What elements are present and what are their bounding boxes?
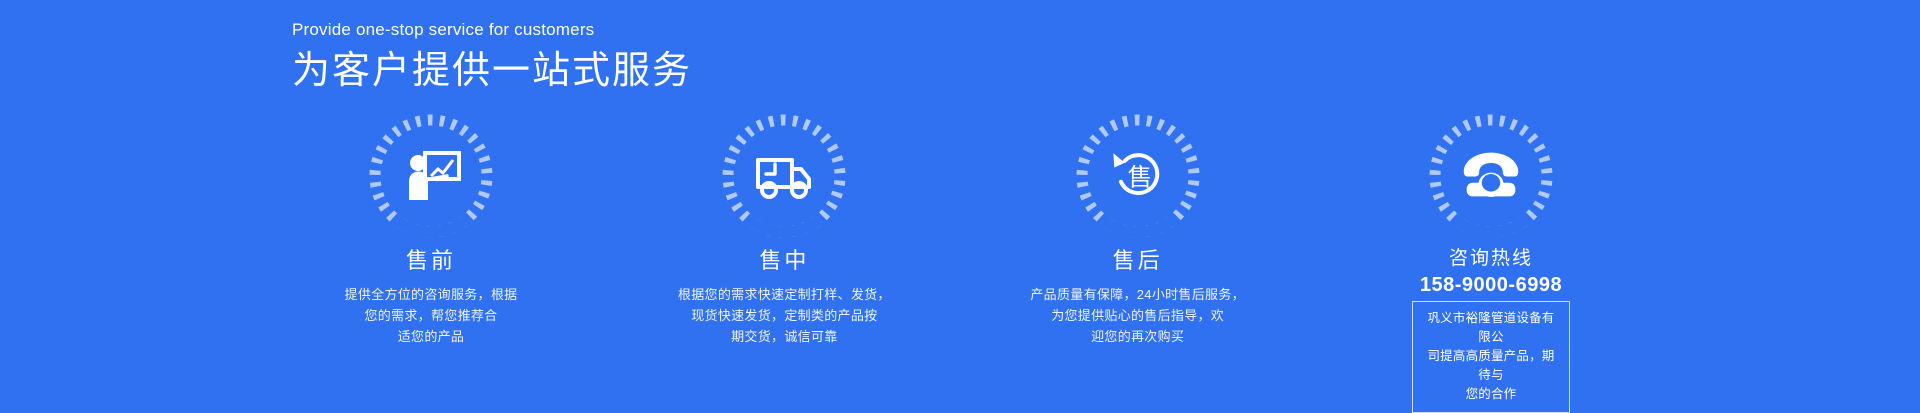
insale-desc-line-3: 期交货，诚信可靠	[677, 326, 892, 347]
hotline-icon-wrap	[1427, 112, 1555, 240]
banner-heading-block: Provide one-stop service for customers 为…	[292, 16, 1192, 98]
banner-subtitle-en: Provide one-stop service for customers	[292, 16, 1192, 44]
presale-desc-line-2: 您的需求，帮您推荐合	[324, 305, 539, 326]
presale-desc: 提供全方位的咨询服务，根据 您的需求，帮您推荐合 适您的产品	[324, 284, 539, 347]
aftersale-desc: 产品质量有保障，24小时售后服务， 为您提供贴心的售后指导，欢 迎您的再次购买	[1030, 284, 1245, 347]
aftersale-desc-line-1: 产品质量有保障，24小时售后服务，	[1030, 284, 1245, 305]
service-column-presale[interactable]: 售前 提供全方位的咨询服务，根据 您的需求，帮您推荐合 适您的产品	[296, 112, 566, 347]
svg-text:售: 售	[1127, 163, 1152, 191]
insale-icon-wrap	[720, 112, 848, 240]
banner-title-cn: 为客户提供一站式服务	[292, 44, 1192, 98]
insale-title: 售中	[759, 246, 809, 276]
insale-desc-line-1: 根据您的需求快速定制打样、发货，	[677, 284, 892, 305]
delivery-truck-clock-icon	[748, 140, 820, 212]
presale-icon-wrap	[367, 112, 495, 240]
insale-desc-line-2: 现货快速发货，定制类的产品按	[677, 305, 892, 326]
service-column-hotline[interactable]: 咨询热线 158-9000-6998 巩义市裕隆管道设备有限公 司提高高质量产品…	[1356, 112, 1626, 413]
presale-desc-line-3: 适您的产品	[324, 326, 539, 347]
insale-desc: 根据您的需求快速定制打样、发货， 现货快速发货，定制类的产品按 期交货，诚信可靠	[677, 284, 892, 347]
hotline-company-box: 巩义市裕隆管道设备有限公 司提高高质量产品，期待与 您的合作	[1412, 301, 1570, 413]
service-columns: 售前 提供全方位的咨询服务，根据 您的需求，帮您推荐合 适您的产品	[296, 112, 1626, 413]
hotline-number[interactable]: 158-9000-6998	[1420, 272, 1562, 298]
service-column-insale[interactable]: 售中 根据您的需求快速定制打样、发货， 现货快速发货，定制类的产品按 期交货，诚…	[649, 112, 919, 347]
hotline-box-line-2: 司提高高质量产品，期待与	[1423, 347, 1559, 385]
refresh-circle-sale-icon: 售	[1102, 140, 1174, 212]
service-banner: Provide one-stop service for customers 为…	[0, 0, 1920, 413]
service-column-aftersale[interactable]: 售 售后 产品质量有保障，24小时售后服务， 为您提供贴心的售后指导，欢 迎您的…	[1003, 112, 1273, 347]
telephone-icon	[1455, 140, 1527, 212]
presale-desc-line-1: 提供全方位的咨询服务，根据	[324, 284, 539, 305]
aftersale-icon-wrap: 售	[1074, 112, 1202, 240]
presenter-whiteboard-icon	[395, 140, 467, 212]
aftersale-title: 售后	[1113, 246, 1163, 276]
aftersale-desc-line-3: 迎您的再次购买	[1030, 326, 1245, 347]
aftersale-desc-line-2: 为您提供贴心的售后指导，欢	[1030, 305, 1245, 326]
hotline-box-line-3: 您的合作	[1423, 385, 1559, 404]
presale-title: 售前	[406, 246, 456, 276]
hotline-box-line-1: 巩义市裕隆管道设备有限公	[1423, 309, 1559, 347]
hotline-label: 咨询热线	[1449, 246, 1533, 272]
